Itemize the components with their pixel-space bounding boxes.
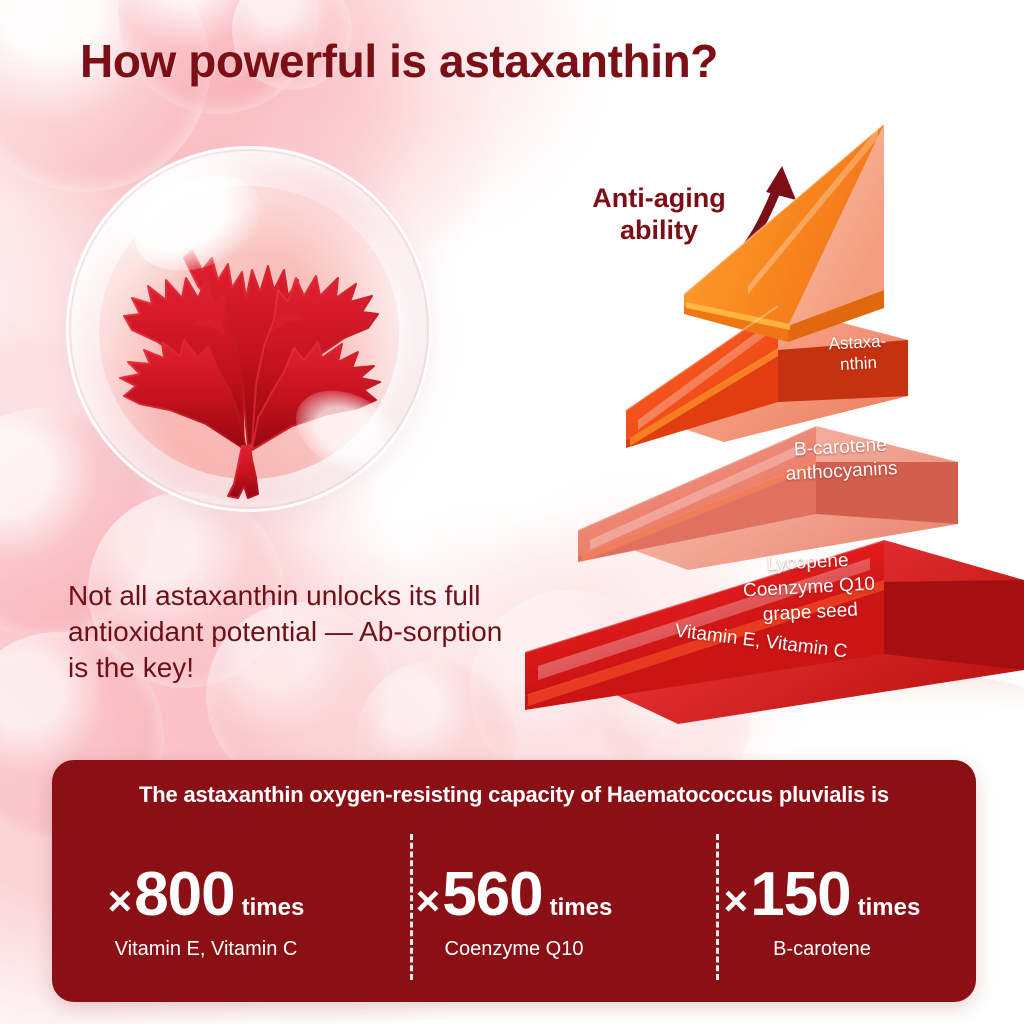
stat-number: × 800 times xyxy=(108,864,305,926)
antioxidant-potency-pyramid: Astaxa- nthin B-carotene anthocyanins Ly… xyxy=(498,110,1024,760)
lede-text: Not all astaxanthin unlocks its full ant… xyxy=(68,578,518,686)
stat-number: × 560 times xyxy=(416,864,613,926)
stat-multiplier-symbol: × xyxy=(416,880,441,922)
stat-caption: Coenzyme Q10 xyxy=(445,938,584,961)
pyramid-tier-1-shape xyxy=(684,124,884,342)
hero-glass-sphere xyxy=(66,146,432,512)
stat-unit: times xyxy=(550,894,613,922)
stats-banner-title: The astaxanthin oxygen-resisting capacit… xyxy=(52,782,976,808)
stat-item: × 560 times Coenzyme Q10 xyxy=(360,832,668,992)
stat-number: × 150 times xyxy=(724,864,921,926)
stat-caption: Vitamin E, Vitamin C xyxy=(115,938,298,961)
stats-row: × 800 times Vitamin E, Vitamin C × 560 t… xyxy=(52,832,976,992)
stat-multiplier-symbol: × xyxy=(108,880,133,922)
infographic-canvas: How powerful is astaxanthin? xyxy=(0,0,1024,1024)
stats-banner: The astaxanthin oxygen-resisting capacit… xyxy=(52,760,976,1002)
page-title: How powerful is astaxanthin? xyxy=(80,34,960,88)
stat-unit: times xyxy=(242,894,305,922)
stat-value: 800 xyxy=(134,864,234,926)
stat-item: × 800 times Vitamin E, Vitamin C xyxy=(52,832,360,992)
stat-value: 560 xyxy=(442,864,542,926)
pyramid-graphic xyxy=(498,110,1024,760)
stat-value: 150 xyxy=(750,864,850,926)
stat-multiplier-symbol: × xyxy=(724,880,749,922)
stat-item: × 150 times B-carotene xyxy=(668,832,976,992)
stat-caption: B-carotene xyxy=(773,938,871,961)
sphere-rim xyxy=(66,146,432,512)
stat-unit: times xyxy=(858,894,921,922)
